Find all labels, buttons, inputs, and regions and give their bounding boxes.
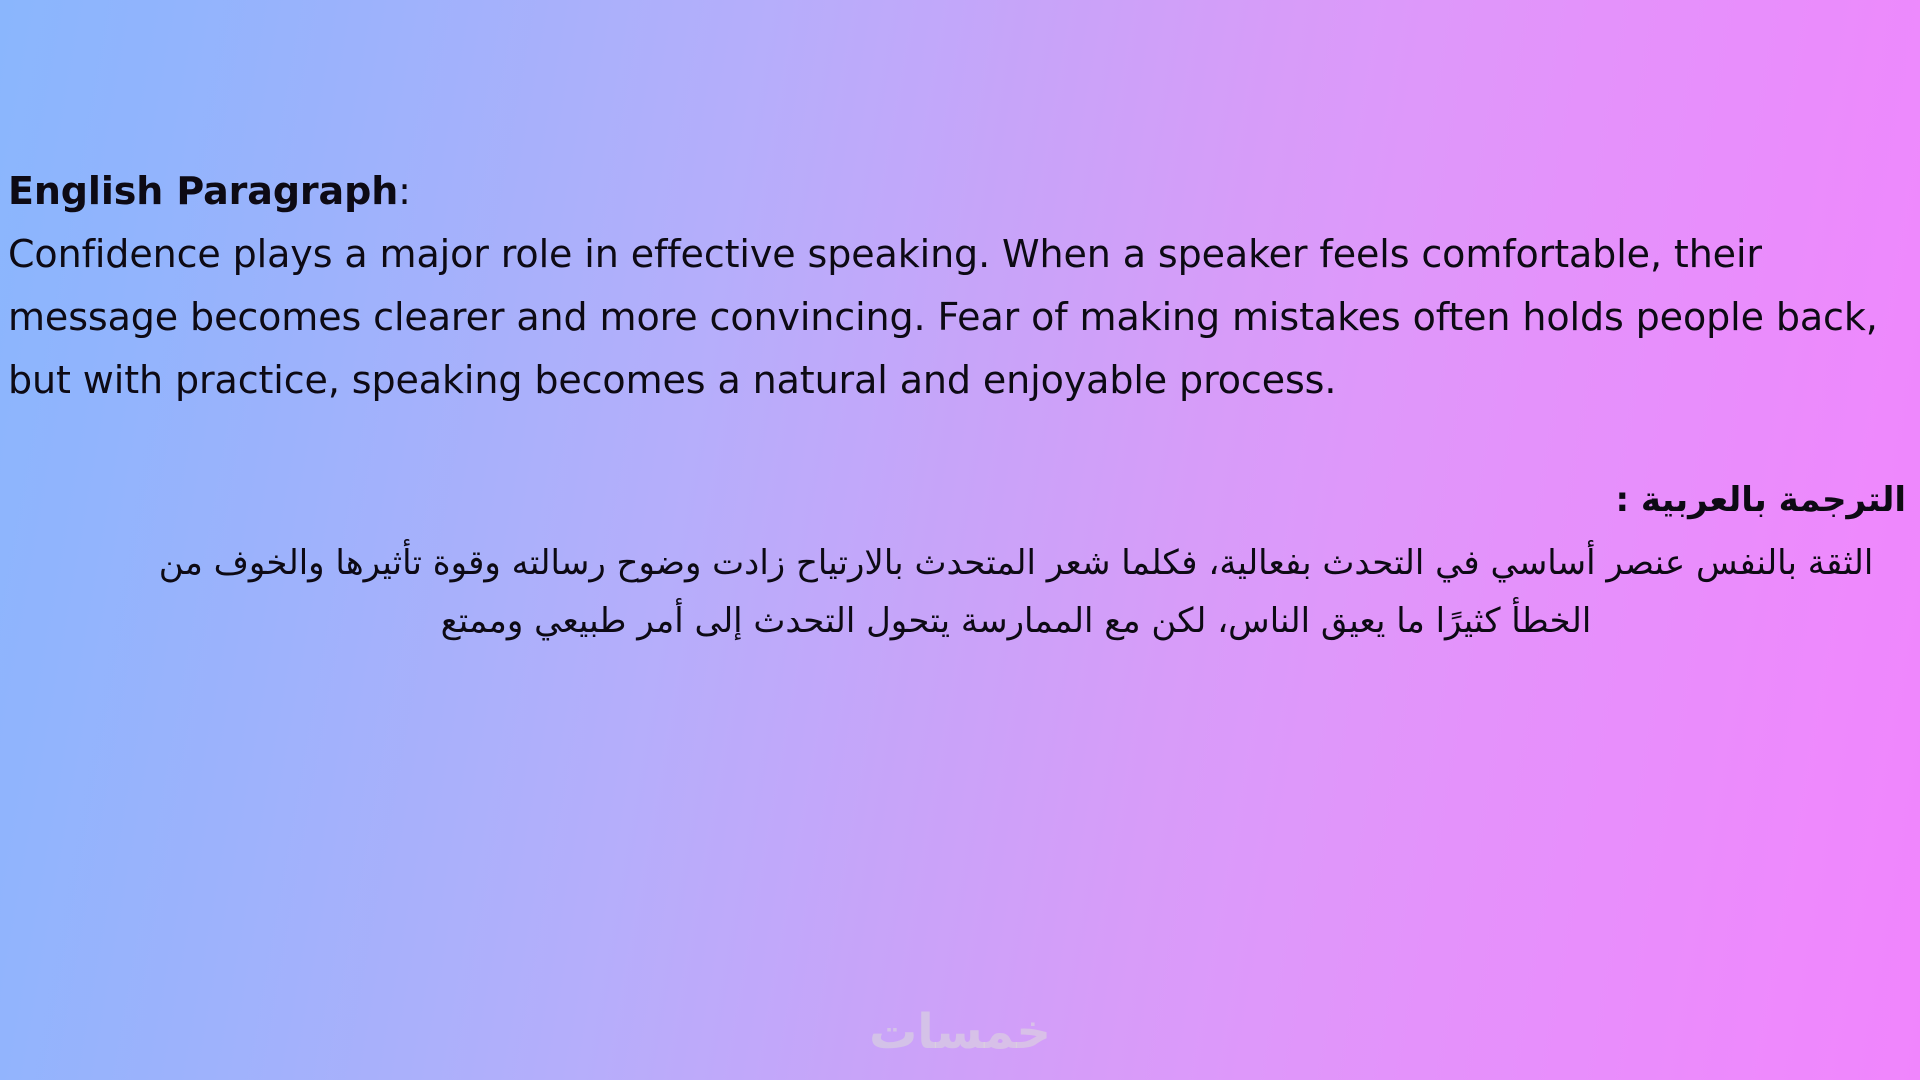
english-paragraph-block: English Paragraph: Confidence plays a ma… bbox=[8, 160, 1912, 412]
khamsat-watermark: خمسات bbox=[0, 1004, 1920, 1060]
english-paragraph-body: Confidence plays a major role in effecti… bbox=[8, 232, 1878, 402]
slide-canvas: English Paragraph: Confidence plays a ma… bbox=[0, 0, 1920, 1080]
arabic-translation-heading: الترجمة بالعربية : bbox=[1615, 477, 1906, 523]
arabic-translation-body: الثقة بالنفس عنصر أساسي في التحدث بفعالي… bbox=[126, 534, 1906, 650]
english-paragraph-heading: English Paragraph bbox=[8, 169, 398, 213]
english-heading-colon: : bbox=[398, 169, 411, 213]
